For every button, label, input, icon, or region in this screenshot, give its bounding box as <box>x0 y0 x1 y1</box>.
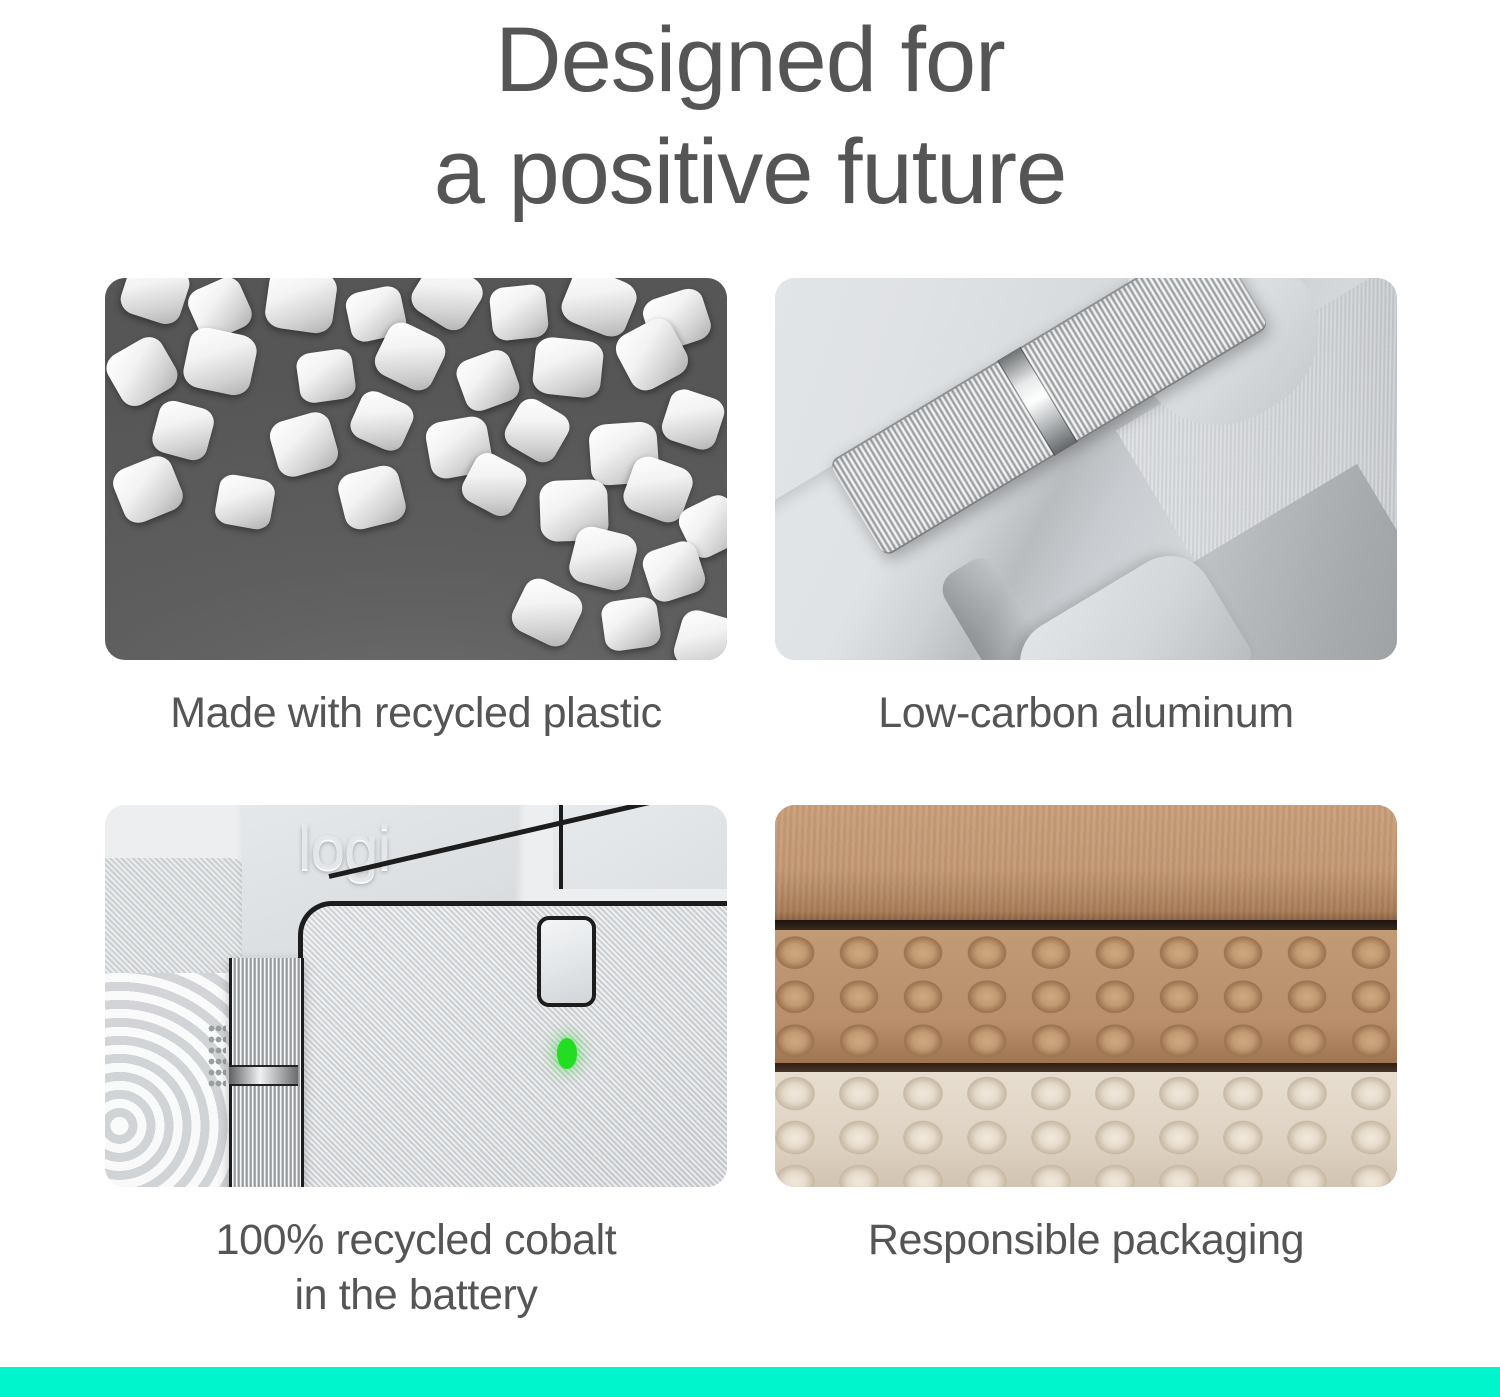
packaging-bump-row <box>775 1076 1397 1115</box>
feature-card-recycled-plastic: Made with recycled plastic <box>105 278 727 741</box>
bottom-accent-bar <box>0 1367 1500 1397</box>
mouse-button <box>537 916 596 1008</box>
feature-image-low-carbon-aluminum <box>775 278 1397 660</box>
feature-image-recycled-cobalt-battery: logi <box>105 805 727 1187</box>
caption-line-1: Made with recycled plastic <box>105 686 727 741</box>
packaging-bump-row <box>775 976 1397 1021</box>
caption-line-1: Responsible packaging <box>775 1213 1397 1268</box>
mouse-vent-dots <box>208 1023 227 1092</box>
plastic-pellet <box>531 336 605 400</box>
scroll-wheel-band <box>997 347 1077 456</box>
caption-line-1: 100% recycled cobalt <box>105 1213 727 1268</box>
caption-line-2: in the battery <box>105 1268 727 1323</box>
packaging-seam-upper <box>775 920 1397 930</box>
feature-caption-recycled-cobalt-battery: 100% recycled cobalt in the battery <box>105 1213 727 1322</box>
packaging-bump-row <box>775 1164 1397 1187</box>
plastic-pellet <box>488 283 549 342</box>
battery-status-led-icon <box>557 1038 578 1069</box>
page-title-line-1: Designed for <box>0 4 1500 116</box>
mouse-main-panel <box>298 901 727 1188</box>
packaging-bump-row <box>775 932 1397 977</box>
packaging-seam-lower <box>775 1063 1397 1071</box>
feature-image-responsible-packaging <box>775 805 1397 1187</box>
packaging-top-band <box>775 805 1397 920</box>
packaging-bump-row <box>775 1020 1397 1065</box>
feature-caption-low-carbon-aluminum: Low-carbon aluminum <box>775 686 1397 741</box>
mouse-vertical-seam <box>559 805 563 889</box>
packaging-bottom-band <box>775 1072 1397 1187</box>
thumb-wheel-band <box>229 1065 297 1086</box>
feature-caption-recycled-plastic: Made with recycled plastic <box>105 686 727 741</box>
packaging-middle-band <box>775 930 1397 1064</box>
plastic-pellet <box>599 595 661 652</box>
plastic-pellet <box>295 347 357 404</box>
feature-card-recycled-cobalt-battery: logi 100% recycled cobalt in the battery <box>105 805 727 1322</box>
packaging-bump-row <box>775 1120 1397 1159</box>
page-title-line-2: a positive future <box>0 116 1500 228</box>
plastic-pellet <box>213 472 277 531</box>
feature-image-recycled-plastic <box>105 278 727 660</box>
feature-card-low-carbon-aluminum: Low-carbon aluminum <box>775 278 1397 741</box>
feature-grid: Made with recycled plastic Low-carbon al… <box>105 278 1397 1188</box>
caption-line-1: Low-carbon aluminum <box>775 686 1397 741</box>
feature-card-responsible-packaging: Responsible packaging <box>775 805 1397 1268</box>
page-title: Designed for a positive future <box>0 0 1500 228</box>
feature-caption-responsible-packaging: Responsible packaging <box>775 1213 1397 1268</box>
